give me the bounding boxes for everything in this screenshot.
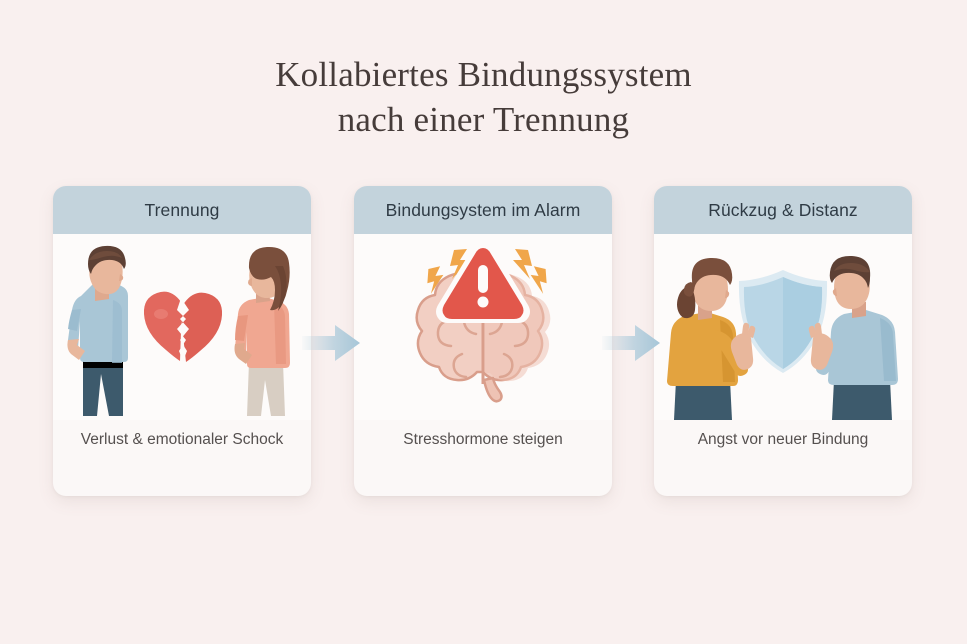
process-flow: Trennung — [0, 186, 967, 496]
step-3-header: Rückzug & Distanz — [654, 186, 912, 234]
step-1-header-label: Trennung — [144, 200, 219, 221]
broken-heart-icon — [144, 292, 222, 362]
step-3-caption: Angst vor neuer Bindung — [654, 420, 912, 496]
page-title-line-2: nach einer Trennung — [0, 97, 967, 142]
step-3-illustration — [654, 234, 912, 420]
flow-arrow-1 — [302, 322, 360, 364]
step-3-caption-label: Angst vor neuer Bindung — [698, 428, 869, 451]
page-title: Kollabiertes Bindungssystem nach einer T… — [0, 52, 967, 142]
step-1-caption: Verlust & emotionaler Schock — [53, 420, 311, 496]
man-figure-sad — [67, 246, 128, 416]
step-1-illustration — [53, 234, 311, 420]
step-1-header: Trennung — [53, 186, 311, 234]
flow-arrow-2 — [602, 322, 660, 364]
step-card-rueckzug-distanz[interactable]: Rückzug & Distanz — [654, 186, 912, 496]
step-2-header-label: Bindungsystem im Alarm — [386, 200, 581, 221]
step-2-header: Bindungsystem im Alarm — [354, 186, 612, 234]
step-3-header-label: Rückzug & Distanz — [708, 200, 858, 221]
step-1-caption-label: Verlust & emotionaler Schock — [81, 428, 283, 451]
step-2-caption-label: Stresshormone steigen — [403, 428, 562, 451]
step-2-caption: Stresshormone steigen — [354, 420, 612, 496]
page-title-line-1: Kollabiertes Bindungssystem — [0, 52, 967, 97]
step-2-illustration — [354, 234, 612, 420]
man-figure-blocking — [809, 256, 898, 420]
step-card-trennung[interactable]: Trennung — [53, 186, 311, 496]
step-card-bindungsystem-alarm[interactable]: Bindungsystem im Alarm — [354, 186, 612, 496]
woman-figure-sad — [235, 247, 291, 416]
